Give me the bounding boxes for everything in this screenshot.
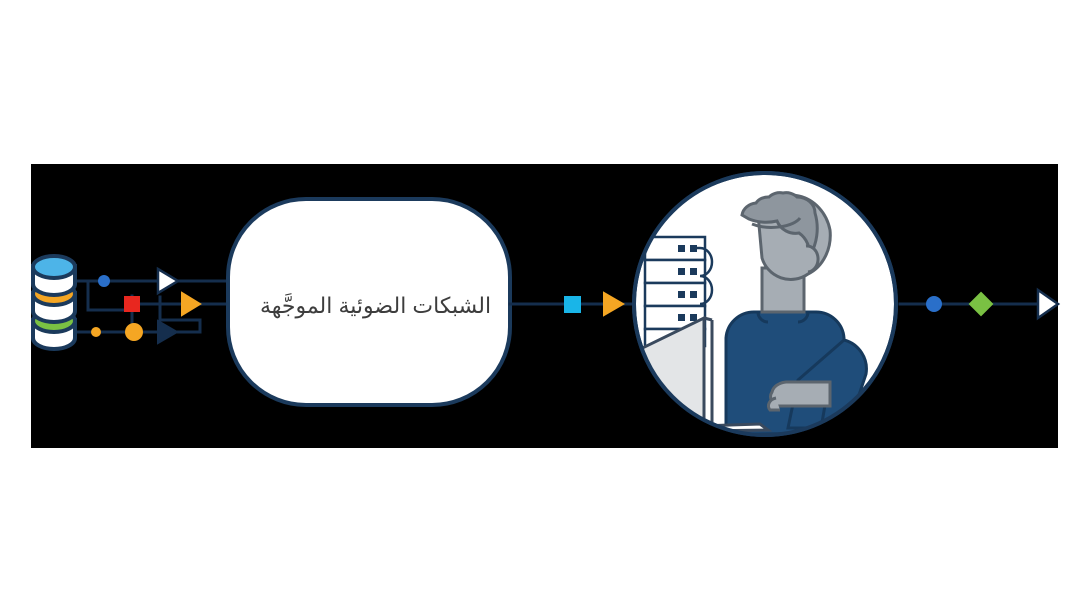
white-play-arrow-right (1038, 290, 1058, 318)
laptop-base (626, 424, 768, 432)
orange-play-arrow-middle (604, 293, 623, 315)
green-diamond (970, 293, 992, 315)
database-stack (33, 256, 75, 349)
forearm (771, 382, 830, 406)
orange-play-arrow-left (182, 293, 200, 315)
red-square (124, 296, 140, 312)
cyan-square (564, 296, 581, 313)
database-disc-blue (33, 256, 75, 278)
dark-play-arrow (158, 321, 177, 343)
laptop-top-edge (704, 318, 712, 320)
process-box-label: الشبكات الضوئية الموجَّهة (243, 286, 508, 326)
blue-dot (98, 275, 110, 287)
left-connector-lines (72, 281, 228, 332)
diagram-artwork (0, 0, 1088, 612)
diagram-canvas: الشبكات الضوئية الموجَّهة (0, 0, 1088, 612)
orange-dot (125, 323, 143, 341)
engineer-illustration (620, 173, 900, 538)
blue-dot-right (926, 296, 942, 312)
ear (806, 246, 818, 272)
small-orange-dot (91, 327, 101, 337)
white-play-arrow-left (158, 269, 178, 293)
